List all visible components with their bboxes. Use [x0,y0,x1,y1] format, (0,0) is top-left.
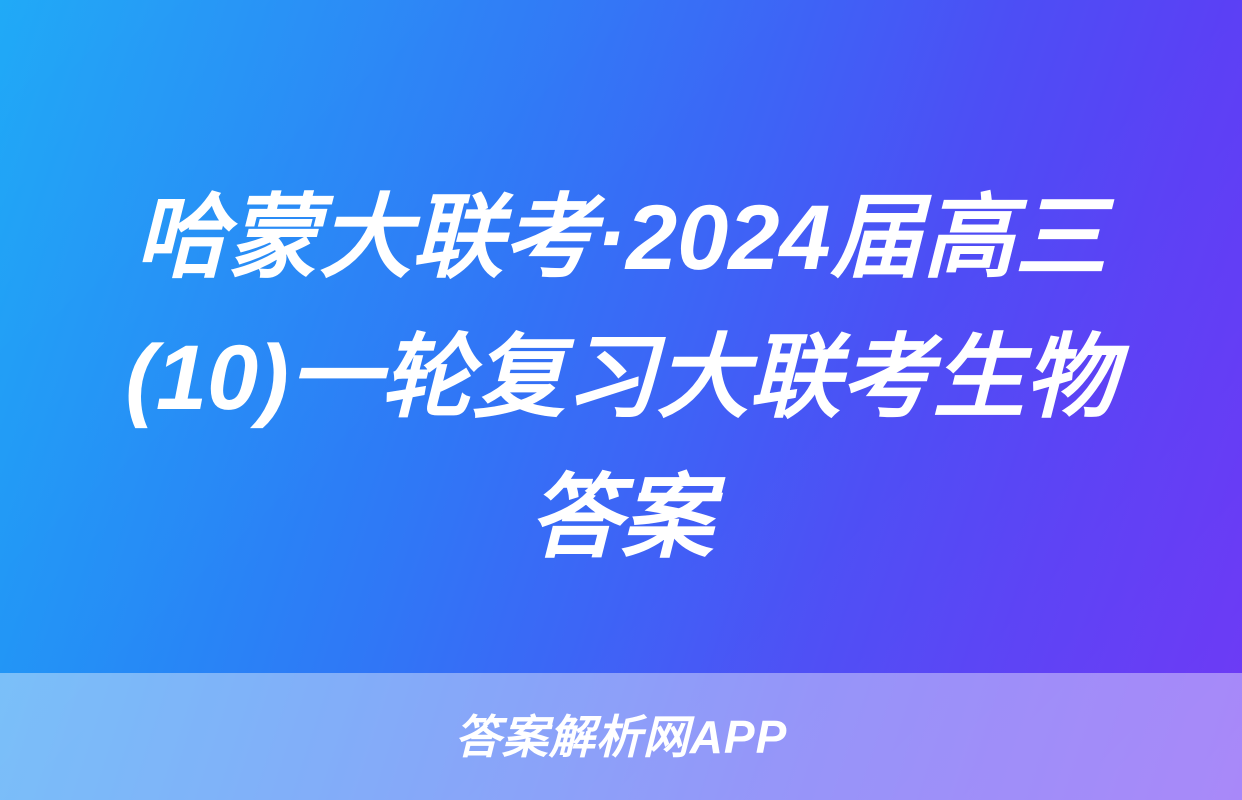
app-watermark-label: 答案解析网APP [455,711,788,763]
title-line-1: 哈蒙大联考·2024届高三 [0,168,1242,308]
answer-cover-card: 哈蒙大联考·2024届高三 (10)一轮复习大联考生物 答案 答案解析网APP [0,0,1242,800]
title-line-2: (10)一轮复习大联考生物 [0,308,1242,448]
title-block: 哈蒙大联考·2024届高三 (10)一轮复习大联考生物 答案 [0,168,1242,628]
title-line-3: 答案 [0,448,1242,588]
footer-watermark-band: 答案解析网APP [0,673,1242,800]
